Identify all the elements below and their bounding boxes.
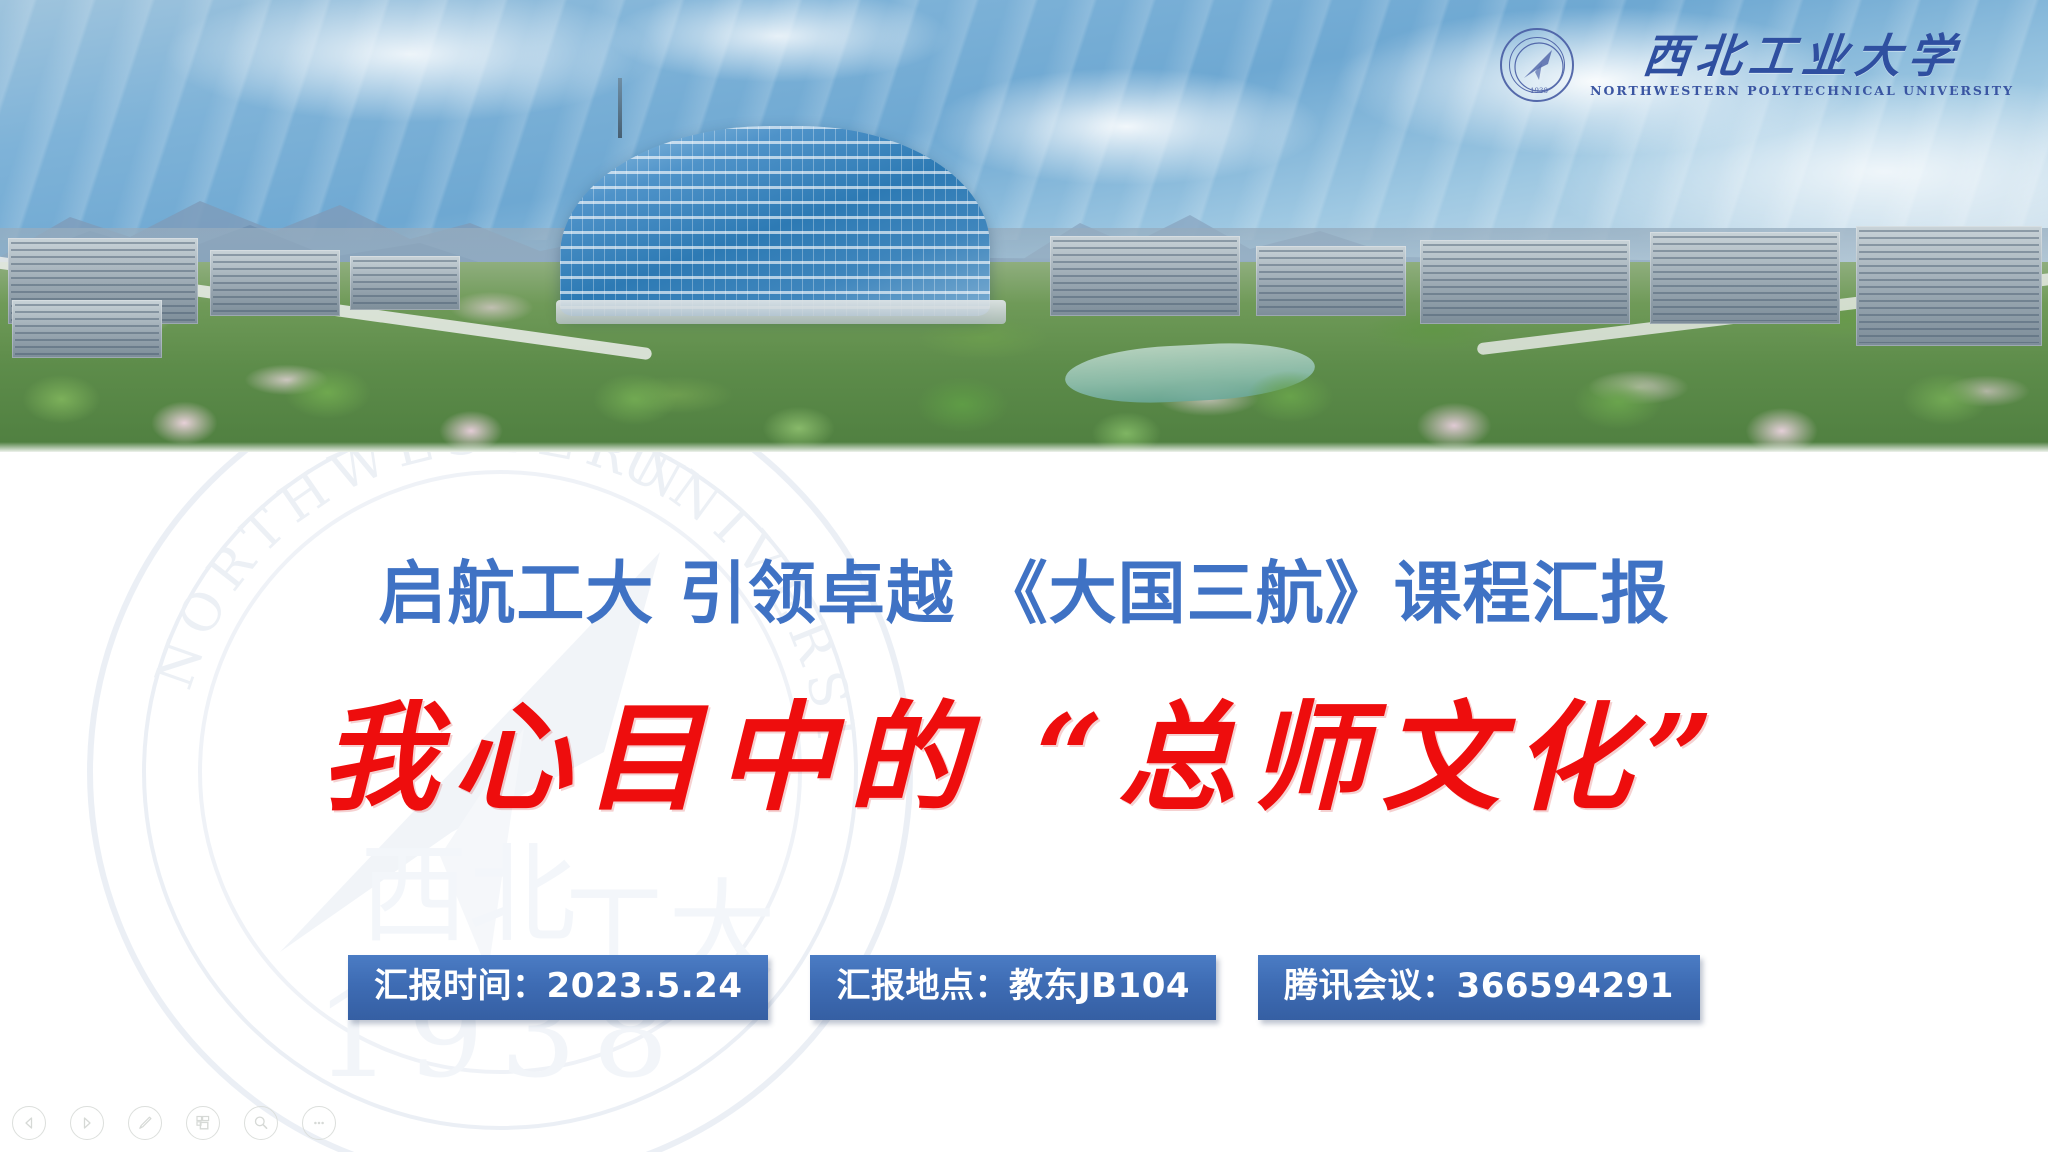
slide-headline: 启航工大 引领卓越 《大国三航》课程汇报 xyxy=(0,538,2048,637)
slide-overview-icon xyxy=(194,1114,212,1132)
magnifier-button[interactable] xyxy=(244,1106,278,1140)
university-name-en: NORTHWESTERN POLYTECHNICAL UNIVERSITY xyxy=(1590,85,2014,98)
campus-building-right-1 xyxy=(1050,236,1240,316)
svg-text:1938: 1938 xyxy=(1530,87,1548,95)
slide-overview-button[interactable] xyxy=(186,1106,220,1140)
campus-building-left-2 xyxy=(210,250,340,316)
next-slide-icon xyxy=(80,1116,94,1130)
info-badge-row: 汇报时间：2023.5.24 汇报地点：教东JB104 腾讯会议：3665942… xyxy=(0,955,2048,1020)
campus-building-right-3 xyxy=(1420,240,1630,324)
next-slide-button[interactable] xyxy=(70,1106,104,1140)
campus-building-right-2 xyxy=(1256,246,1406,316)
presentation-slide: 1938 西北工业大学 NORTHWESTERN POLYTECHNICAL U… xyxy=(0,0,2048,1152)
university-logo: 1938 西北工业大学 NORTHWESTERN POLYTECHNICAL U… xyxy=(1500,28,2014,102)
banner-bottom-fade xyxy=(0,442,2048,452)
svg-text:西北: 西北 xyxy=(360,833,576,958)
magnifier-icon xyxy=(252,1114,270,1132)
badge-report-place: 汇报地点：教东JB104 xyxy=(810,955,1216,1020)
main-glass-tower xyxy=(560,126,990,316)
badge-tencent-meeting: 腾讯会议：366594291 xyxy=(1258,955,1700,1020)
badge-report-time: 汇报时间：2023.5.24 xyxy=(348,955,768,1020)
campus-photo-banner: 1938 西北工业大学 NORTHWESTERN POLYTECHNICAL U… xyxy=(0,0,2048,452)
slide-subtitle: 我心目中的 “总师文化” xyxy=(0,690,2048,826)
campus-building-right-4 xyxy=(1650,232,1840,324)
more-options-icon xyxy=(310,1114,328,1132)
previous-slide-button[interactable] xyxy=(12,1106,46,1140)
campus-building-left-3 xyxy=(350,256,460,310)
pen-icon xyxy=(136,1114,154,1132)
previous-slide-icon xyxy=(22,1116,36,1130)
more-options-button[interactable] xyxy=(302,1106,336,1140)
university-seal-icon: 1938 xyxy=(1500,28,1574,102)
tree-line xyxy=(0,320,2048,452)
university-name-cn: 西北工业大学 xyxy=(1641,33,1964,79)
slideshow-toolbar xyxy=(12,1106,336,1140)
university-wordmark: 西北工业大学 NORTHWESTERN POLYTECHNICAL UNIVER… xyxy=(1590,33,2014,98)
pen-button[interactable] xyxy=(128,1106,162,1140)
